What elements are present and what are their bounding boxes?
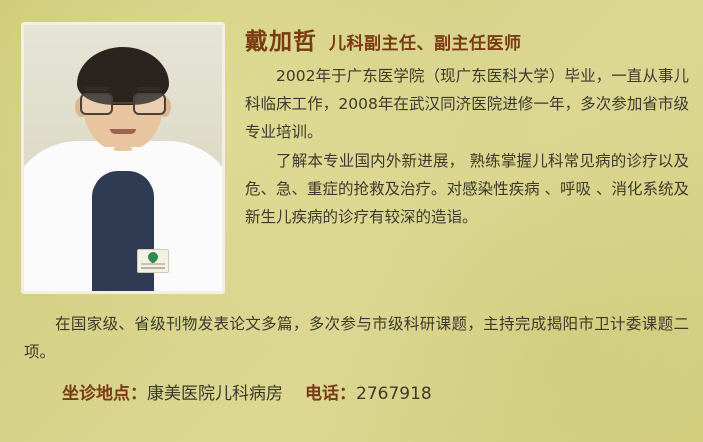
bio-paragraph-3: 在国家级、省级刊物发表论文多篇，多次参与市级科研课题，主持完成揭阳市卫计委课题二… — [24, 310, 689, 366]
glasses-lens-right — [133, 93, 166, 115]
phone-value: 2767918 — [356, 384, 432, 404]
doctor-profile-card: 戴加哲 儿科副主任、副主任医师 2002年于广东医学院（现广东医科大学）毕业，一… — [0, 0, 703, 442]
eyebrow-right — [137, 87, 161, 91]
hospital-badge — [137, 249, 169, 273]
bio-paragraph-1: 2002年于广东医学院（现广东医科大学）毕业，一直从事儿科临床工作，2008年在… — [245, 62, 689, 146]
glasses-lens-left — [80, 93, 113, 115]
doctor-title: 儿科副主任、副主任医师 — [329, 29, 522, 54]
hospital-logo-icon — [146, 250, 160, 264]
location-label: 坐诊地点： — [62, 379, 147, 404]
mouth-shape — [110, 129, 136, 134]
location-value: 康美医院儿科病房 — [147, 379, 283, 404]
clinic-footer: 坐诊地点： 康美医院儿科病房 电话： 2767918 — [62, 379, 432, 404]
phone-label: 电话： — [305, 379, 356, 404]
bio-wide-block: 在国家级、省级刊物发表论文多篇，多次参与市级科研课题，主持完成揭阳市卫计委课题二… — [24, 310, 689, 366]
doctor-info-block: 戴加哲 儿科副主任、副主任医师 2002年于广东医学院（现广东医科大学）毕业，一… — [245, 22, 689, 232]
doctor-name-row: 戴加哲 儿科副主任、副主任医师 — [245, 22, 689, 56]
coat-collar-right — [131, 147, 179, 239]
doctor-photo-frame — [21, 22, 225, 294]
eyebrow-left — [85, 87, 109, 91]
glasses-icon — [80, 93, 166, 115]
bio-paragraph-2: 了解本专业国内外新进展， 熟练掌握儿科常见病的诊疗以及危、急、重症的抢救及治疗。… — [245, 147, 689, 231]
badge-text-line — [141, 267, 165, 269]
doctor-portrait-image — [24, 25, 222, 291]
glasses-bridge — [113, 102, 133, 104]
coat-collar-left — [67, 147, 115, 239]
doctor-name: 戴加哲 — [245, 22, 317, 56]
